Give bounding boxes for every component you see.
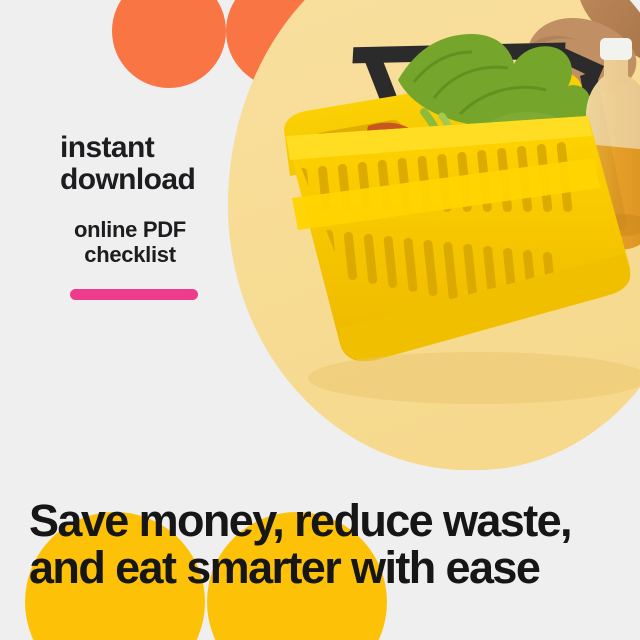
pink-accent-bar [70, 289, 198, 300]
text-column: instant download online PDF checklist [60, 132, 290, 300]
headline-line-1: Save money, reduce waste, [29, 498, 629, 545]
headline-line-2: and eat smarter with ease [29, 545, 629, 592]
subhead-line-1: online PDF [74, 217, 186, 242]
subhead: online PDF checklist [60, 218, 200, 267]
headline: Save money, reduce waste, and eat smarte… [29, 498, 629, 592]
promo-poster: instant download online PDF checklist Sa… [0, 0, 640, 640]
eyebrow-line-1: instant [60, 132, 290, 164]
subhead-line-2: checklist [84, 242, 175, 267]
eyebrow-line-2: download [60, 164, 290, 196]
orange-circle-1 [112, 0, 226, 88]
